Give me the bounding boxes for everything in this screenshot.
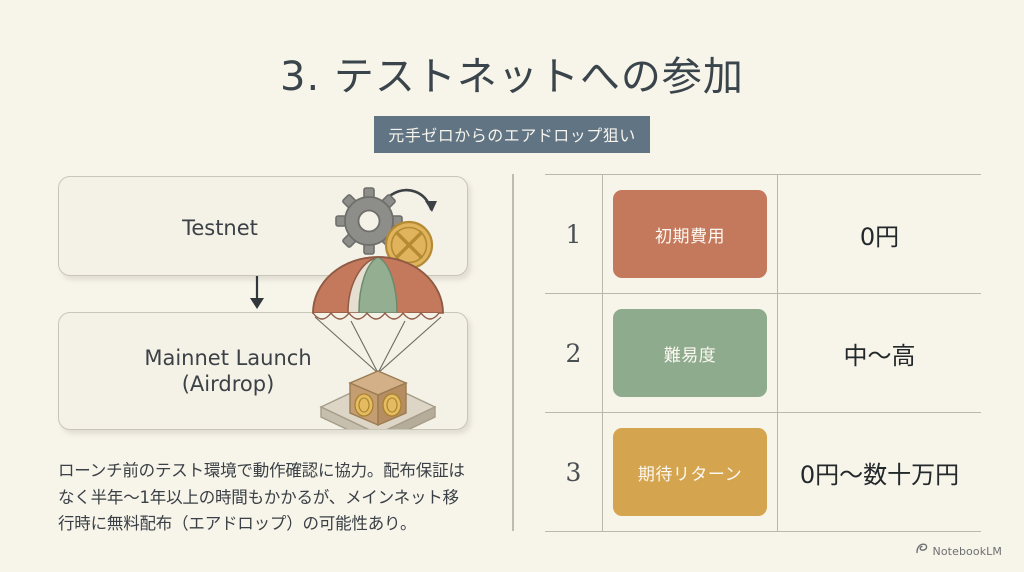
row-value: 中〜高 [778,336,981,371]
slide-root: 3. テストネットへの参加 元手ゼロからのエアドロップ狙い Testnet [0,0,1024,572]
status-badge: 難易度 [613,309,767,397]
row-value: 0円 [778,217,981,252]
subtitle-badge: 元手ゼロからのエアドロップ狙い [374,116,650,153]
table-row: 3 期待リターン 0円〜数十万円 [545,412,981,532]
column-divider [512,174,514,531]
description-line-2: なく半年〜1年以上の時間もかかるが、メインネット移 [58,485,490,512]
row-number: 2 [545,339,602,368]
page-title: 3. テストネットへの参加 [0,44,1024,102]
parachute-box-icon [295,247,461,429]
description-line-1: ローンチ前のテスト環境で動作確認に協力。配布保証は [58,458,490,485]
footer-label: NotebookLM [933,545,1002,558]
flow-diagram: Testnet [58,176,468,430]
flow-step-mainnet: Mainnet Launch (Airdrop) [58,312,468,430]
subtitle-container: 元手ゼロからのエアドロップ狙い [0,116,1024,153]
status-badge: 初期費用 [613,190,767,278]
status-badge: 期待リターン [613,428,767,516]
flow-step-mainnet-line1: Mainnet Launch [144,346,311,370]
summary-table: 1 初期費用 0円 2 難易度 中〜高 3 期待リターン 0円〜数十万円 [545,174,981,532]
footer-watermark: NotebookLM [915,542,1002,560]
description-line-3: 行時に無料配布（エアドロップ）の可能性あり。 [58,511,490,538]
row-number: 1 [545,220,602,249]
row-badge-cell: 期待リターン [602,413,778,531]
table-row: 1 初期費用 0円 [545,174,981,293]
description-text: ローンチ前のテスト環境で動作確認に協力。配布保証は なく半年〜1年以上の時間もか… [58,458,490,538]
row-badge-cell: 初期費用 [602,175,778,293]
row-value: 0円〜数十万円 [778,455,981,490]
table-row: 2 難易度 中〜高 [545,293,981,412]
row-badge-cell: 難易度 [602,294,778,412]
notebooklm-logo-icon [915,542,928,560]
row-number: 3 [545,458,602,487]
